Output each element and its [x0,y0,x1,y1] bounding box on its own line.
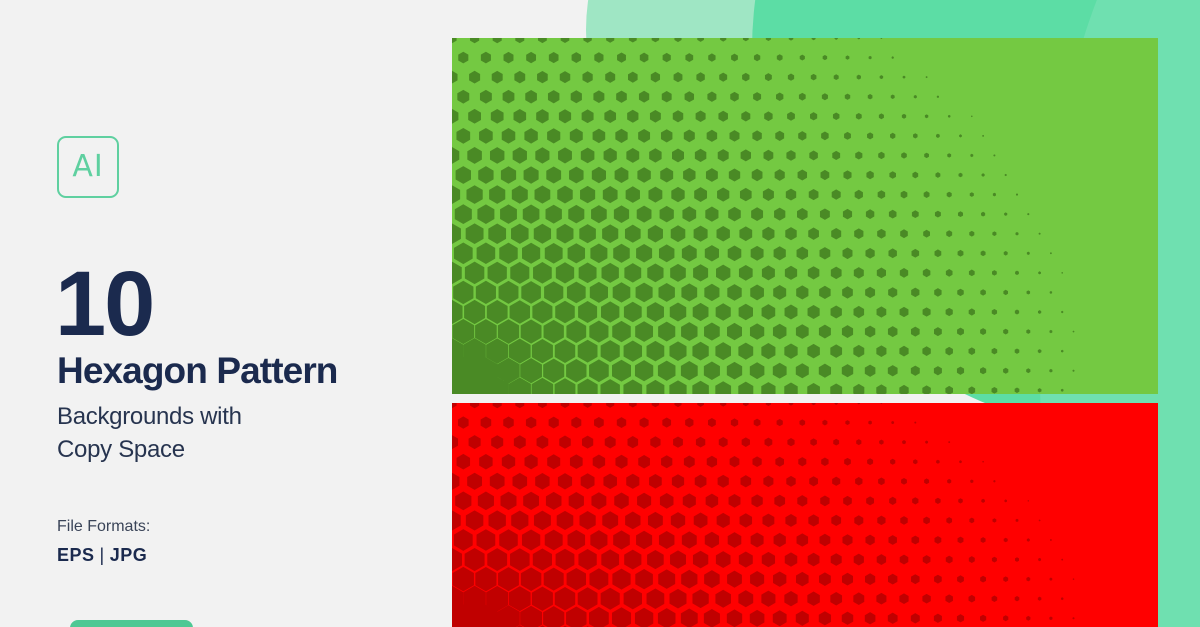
file-formats-value: EPS|JPG [57,542,150,569]
green-halftone-pattern [452,38,1158,394]
green-hexagon-halftone-preview[interactable] [452,38,1158,394]
red-hexagon-halftone-preview[interactable] [452,403,1158,627]
red-halftone-pattern [452,403,1158,627]
cta-button[interactable] [70,620,193,627]
file-formats-label: File Formats: [57,515,150,539]
subtitle-line-1: Backgrounds with [57,400,397,433]
format-eps: EPS [57,545,95,565]
page-title: Hexagon Pattern [57,352,338,389]
file-formats: File Formats: EPS|JPG [57,515,150,569]
subtitle-line-2: Copy Space [57,433,397,466]
page-subtitle: Backgrounds with Copy Space [57,400,397,466]
info-column: AI 10 Hexagon Pattern Backgrounds with C… [57,0,437,627]
item-count: 10 [55,258,153,350]
poster-canvas: AI 10 Hexagon Pattern Backgrounds with C… [0,0,1200,627]
ai-badge-label: AI [72,152,103,182]
format-jpg: JPG [110,545,148,565]
adobe-illustrator-ai-badge-icon: AI [57,136,119,198]
format-separator: | [95,545,110,565]
